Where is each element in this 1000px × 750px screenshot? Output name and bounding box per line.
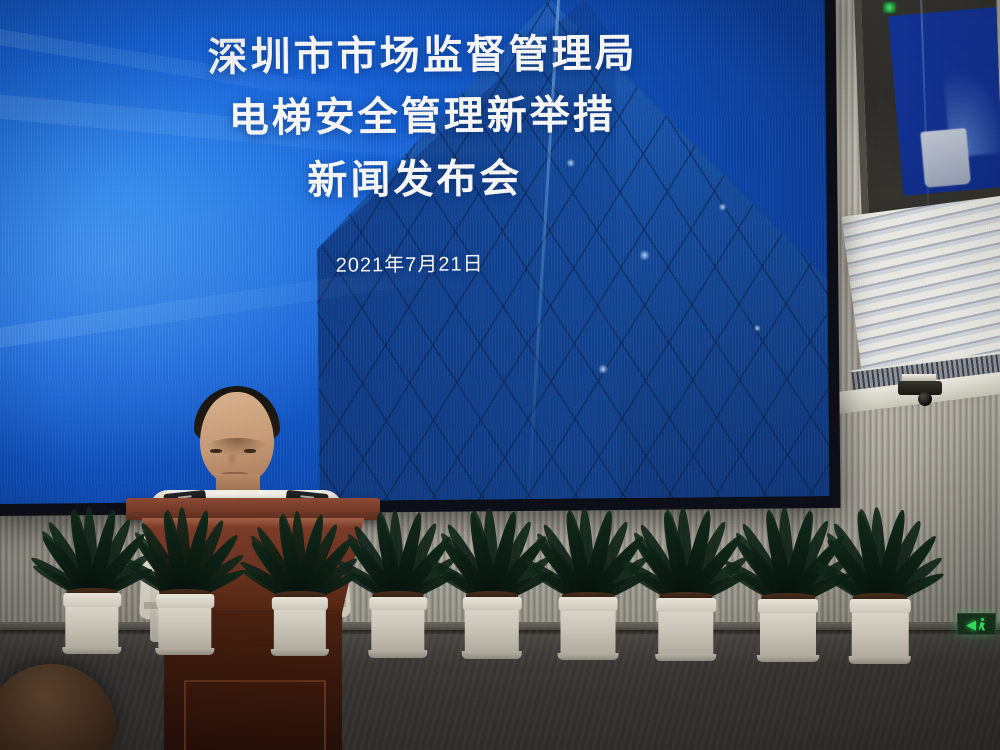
podium-decorative-panel [184,680,326,750]
led-screen-bezel: 深圳市市场监督管理局 电梯安全管理新举措 新闻发布会 2021年7月21日 [0,0,841,516]
plant-pot [274,597,326,657]
exit-arrow-icon: ◀ [966,618,976,631]
running-man-icon [978,618,987,631]
speaker-eye-right [244,449,256,453]
plant-pot [371,597,424,658]
slide-title-line-2: 电梯安全管理新举措 [228,87,616,148]
plant-pot [561,597,616,660]
camera-lens [918,392,932,406]
slide-title-line-3: 新闻发布会 [307,151,523,210]
led-screen: 深圳市市场监督管理局 电梯安全管理新举措 新闻发布会 2021年7月21日 [0,0,829,504]
potted-plant [127,465,243,655]
camera-mount-plate [902,374,936,381]
plant-pot [658,598,713,661]
slide-title-line-1: 深圳市市场监督管理局 [207,26,638,87]
plant-pot [760,599,816,663]
plant-foliage [127,458,243,599]
window-reflection-panel [888,7,1000,196]
potted-plant [819,462,942,663]
plant-pot [65,593,118,654]
speaker-eye-left [210,449,222,453]
emergency-exit-sign: ◀ [957,613,996,635]
press-conference-photo: 深圳市市场监督管理局 电梯安全管理新举措 新闻发布会 2021年7月21日 ◀ [0,0,1000,750]
slide-text-block: 深圳市市场监督管理局 电梯安全管理新举措 新闻发布会 2021年7月21日 [0,0,829,504]
speaker-brow-shadow [206,438,268,456]
plant-pot [852,599,909,663]
plant-pot [158,594,211,655]
slide-date: 2021年7月21日 [336,248,484,278]
green-indicator-light [883,2,896,13]
plant-foliage [819,454,942,603]
plant-pot [465,597,519,659]
security-camera [898,374,942,404]
